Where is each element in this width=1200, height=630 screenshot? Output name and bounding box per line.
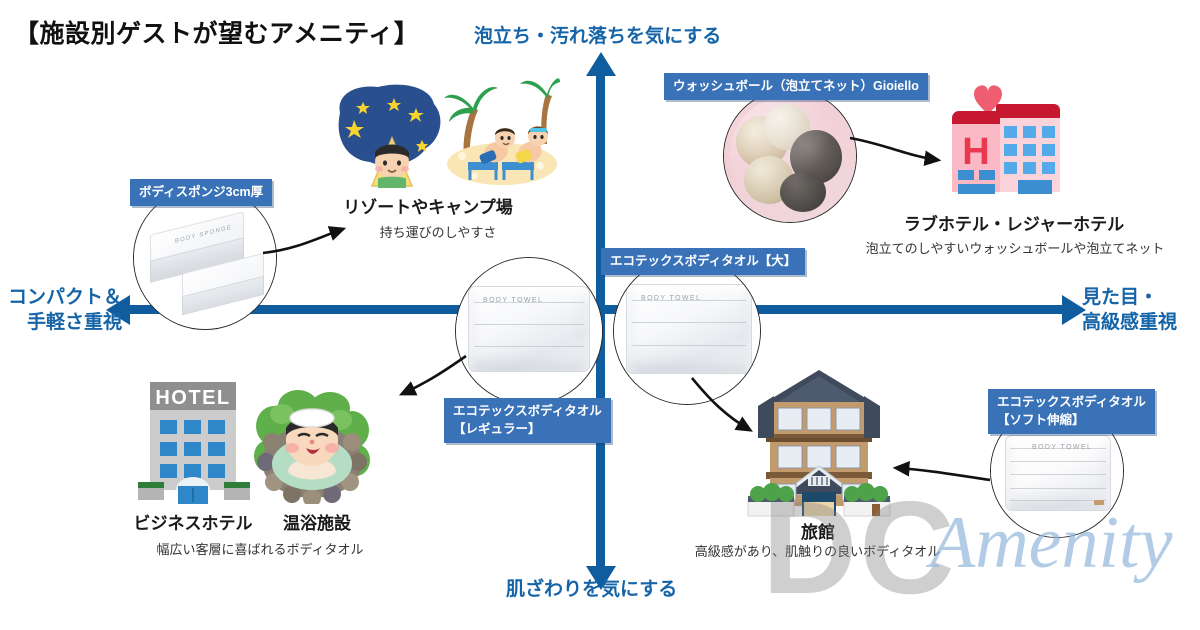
tag-eco-towel-large[interactable]: エコテックスボディタオル【大】 — [601, 248, 805, 275]
facility-name-onsen: 温浴施設 — [262, 509, 372, 534]
axis-label-bottom: 肌ざわりを気にする — [506, 578, 677, 603]
illustration-camping — [330, 78, 455, 188]
towel-print-label-regular: BODY TOWEL — [483, 297, 543, 304]
facility-desc-love-hotel: 泡立てのしやすいウォッシュボールや泡立てネット — [850, 238, 1180, 257]
tag-wash-ball[interactable]: ウォッシュボール（泡立てネット）Gioiello — [664, 73, 928, 100]
tag-eco-towel-soft-line2: 【ソフト伸縮】 — [997, 411, 1146, 429]
arrow-regular-towel-to-onsen — [388, 352, 478, 412]
towel-print-label-soft: BODY TOWEL — [1032, 444, 1092, 451]
axis-arrow-up-icon — [586, 52, 616, 76]
illustration-business-hotel: HOTEL — [136, 374, 254, 506]
illustration-onsen — [252, 386, 372, 504]
photo-wash-ball — [723, 89, 857, 223]
watermark-dc: DC — [762, 482, 957, 614]
hotel-sign-text: HOTEL — [155, 387, 230, 409]
facility-name-resort-camp: リゾートやキャンプ場 — [328, 193, 528, 218]
tag-body-sponge[interactable]: ボディスポンジ3cm厚 — [130, 179, 272, 206]
tag-eco-towel-soft[interactable]: エコテックスボディタオル 【ソフト伸縮】 — [988, 389, 1155, 434]
page-title: 【施設別ゲストが望むアメニティ】 — [14, 14, 419, 50]
facility-desc-resort-camp: 持ち運びのしやすさ — [338, 222, 538, 241]
facility-desc-business-hotel: 幅広い客層に喜ばれるボディタオル — [120, 539, 400, 558]
photo-body-sponge: BODY SPONGE — [133, 186, 277, 330]
axis-label-left: コンパクト＆ 手軽さ重視 — [6, 286, 122, 335]
illustration-beach-resort — [440, 68, 560, 188]
axis-label-right: 見た目・ 高級感重視 — [1082, 286, 1200, 335]
axis-label-right-line2: 高級感重視 — [1082, 311, 1200, 336]
illustration-love-hotel: H — [938, 80, 1060, 198]
axis-label-left-line2: 手軽さ重視 — [6, 311, 122, 336]
axis-label-left-line1: コンパクト＆ — [6, 286, 122, 311]
axis-label-right-line1: 見た目・ — [1082, 286, 1200, 311]
axis-label-top: 泡立ち・汚れ落ちを気にする — [474, 25, 721, 50]
tag-eco-towel-regular-line2: 【レギュラー】 — [453, 420, 602, 438]
tag-eco-towel-soft-line1: エコテックスボディタオル — [997, 393, 1146, 411]
watermark-amenity: Amenity — [930, 506, 1172, 580]
towel-print-label-large: BODY TOWEL — [641, 295, 701, 302]
positioning-map-canvas: 【施設別ゲストが望むアメニティ】 泡立ち・汚れ落ちを気にする 肌ざわりを気にする… — [0, 0, 1200, 630]
facility-name-business-hotel: ビジネスホテル — [118, 509, 268, 534]
facility-name-love-hotel: ラブホテル・レジャーホテル — [884, 210, 1144, 235]
love-hotel-letter: H — [962, 131, 989, 173]
